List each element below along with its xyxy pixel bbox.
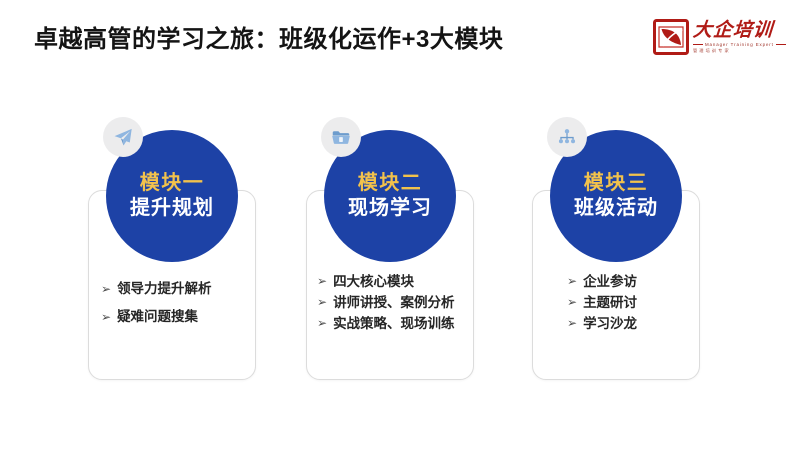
bullet-text: 企业参访 [583, 271, 637, 292]
brand-en-text: Manager Training Expert [705, 43, 774, 47]
bullet-text: 主题研讨 [583, 292, 637, 313]
bullet-text: 学习沙龙 [583, 313, 637, 334]
module-name-1: 提升规划 [130, 198, 214, 220]
module-kicker-1: 模块一 [140, 173, 205, 195]
module-card-row: 模块一 提升规划 ➢ 领导力提升解析 ➢ 疑难问题搜集 [0, 118, 800, 388]
list-item: ➢ 疑难问题搜集 [101, 303, 249, 331]
bullet-text: 讲师讲授、案例分析 [333, 292, 455, 313]
brand-name-en: Manager Training Expert [693, 43, 786, 47]
module-card-3[interactable]: 模块三 班级活动 ➢ 企业参访 ➢ 主题研讨 ➢ 学习沙龙 [532, 190, 700, 380]
org-chart-icon [547, 117, 587, 157]
module-card-2[interactable]: 模块二 现场学习 ➢ 四大核心模块 ➢ 讲师讲授、案例分析 ➢ 实战策略、现场训… [306, 190, 474, 380]
module-card-1[interactable]: 模块一 提升规划 ➢ 领导力提升解析 ➢ 疑难问题搜集 [88, 190, 256, 380]
list-item: ➢ 讲师讲授、案例分析 [317, 292, 467, 313]
bullet-arrow-icon: ➢ [317, 292, 327, 313]
module-bullet-list-1: ➢ 领导力提升解析 ➢ 疑难问题搜集 [89, 275, 255, 331]
slide-header: 卓越高管的学习之旅：班级化运作+3大模块 大企培训 Manager Traini… [0, 0, 800, 76]
list-item: ➢ 主题研讨 [567, 292, 693, 313]
bullet-arrow-icon: ➢ [317, 313, 327, 334]
brand-tagline-cn: 管理培训专家 [693, 49, 786, 53]
brand-name-cn: 大企培训 [692, 21, 786, 40]
module-kicker-2: 模块二 [358, 173, 423, 195]
bullet-arrow-icon: ➢ [101, 275, 111, 303]
bullet-arrow-icon: ➢ [567, 313, 577, 334]
brand-logo: 大企培训 Manager Training Expert 管理培训专家 [653, 16, 783, 58]
module-name-3: 班级活动 [574, 198, 658, 220]
list-item: ➢ 学习沙龙 [567, 313, 693, 334]
folder-icon [321, 117, 361, 157]
module-bullet-list-2: ➢ 四大核心模块 ➢ 讲师讲授、案例分析 ➢ 实战策略、现场训练 [307, 271, 473, 334]
paper-plane-icon [103, 117, 143, 157]
module-name-2: 现场学习 [348, 198, 432, 220]
logo-rule-left [693, 44, 703, 45]
bullet-text: 疑难问题搜集 [117, 303, 198, 331]
bullet-arrow-icon: ➢ [101, 303, 111, 331]
page-title: 卓越高管的学习之旅：班级化运作+3大模块 [34, 24, 503, 56]
module-kicker-3: 模块三 [584, 173, 649, 195]
list-item: ➢ 领导力提升解析 [101, 275, 249, 303]
module-bullet-list-3: ➢ 企业参访 ➢ 主题研讨 ➢ 学习沙龙 [533, 271, 699, 334]
list-item: ➢ 企业参访 [567, 271, 693, 292]
logo-rule-right [776, 44, 786, 45]
bullet-arrow-icon: ➢ [317, 271, 327, 292]
bullet-text: 领导力提升解析 [117, 275, 212, 303]
bullet-text: 实战策略、现场训练 [333, 313, 455, 334]
dqpx-seal-mark-icon [653, 19, 689, 55]
slide-canvas: 卓越高管的学习之旅：班级化运作+3大模块 大企培训 Manager Traini… [0, 0, 800, 450]
list-item: ➢ 实战策略、现场训练 [317, 313, 467, 334]
list-item: ➢ 四大核心模块 [317, 271, 467, 292]
bullet-arrow-icon: ➢ [567, 292, 577, 313]
bullet-text: 四大核心模块 [333, 271, 414, 292]
bullet-arrow-icon: ➢ [567, 271, 577, 292]
brand-wordmark: 大企培训 Manager Training Expert 管理培训专家 [693, 21, 786, 54]
